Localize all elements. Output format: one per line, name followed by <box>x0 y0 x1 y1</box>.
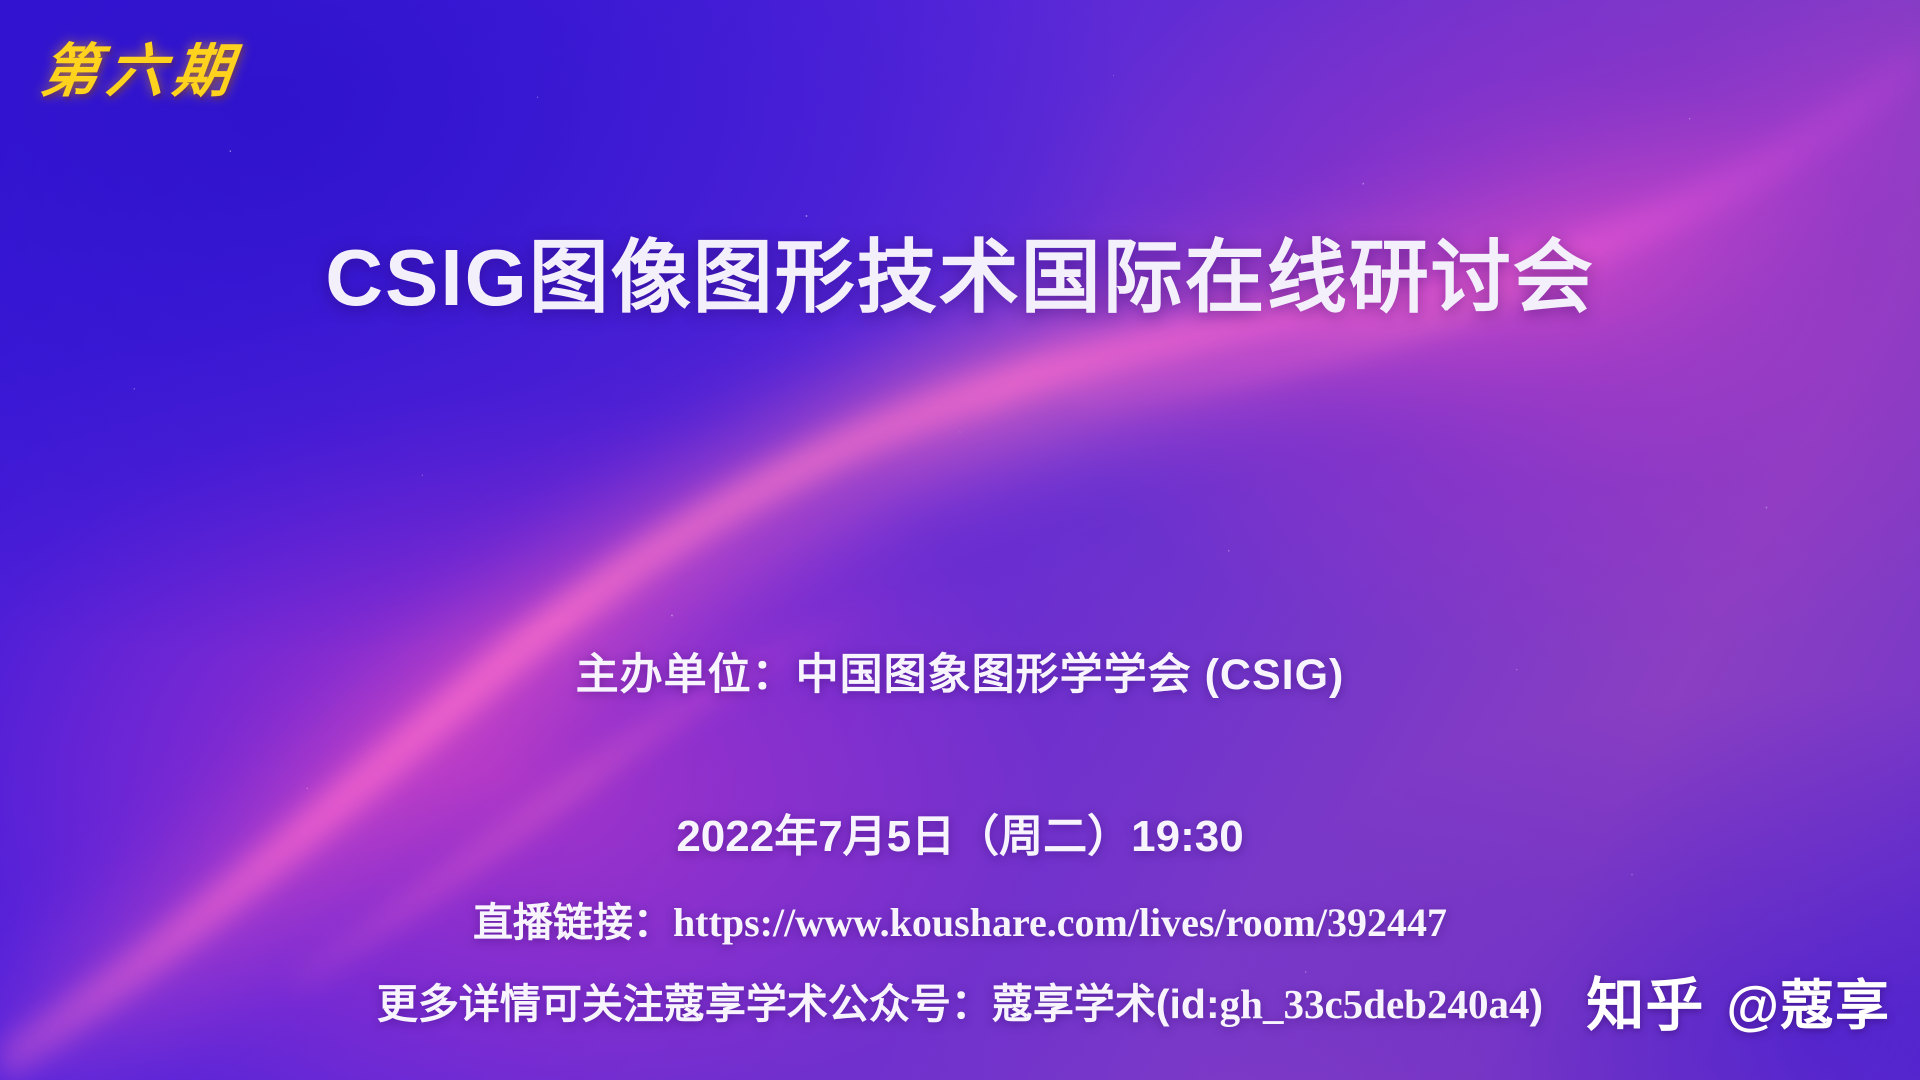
zhihu-watermark: 知乎 @蔻享 <box>1586 958 1890 1042</box>
zhihu-handle: @蔻享 <box>1726 961 1890 1040</box>
page-title: CSIG图像图形技术国际在线研讨会 <box>0 236 1920 320</box>
organizer-line: 主办单位：中国图象图形学学会 (CSIG) <box>0 640 1920 702</box>
poster-content: 第六期 CSIG图像图形技术国际在线研讨会 主办单位：中国图象图形学学会 (CS… <box>0 0 1920 1080</box>
datetime-line: 2022年7月5日（周二）19:30 <box>0 800 1920 864</box>
wechat-label: 更多详情可关注蔻享学术公众号：蔻享学术(id: <box>377 981 1220 1027</box>
wechat-account-id: gh_33c5deb240a4 <box>1220 981 1530 1027</box>
live-link-url[interactable]: https://www.koushare.com/lives/room/3924… <box>673 900 1447 945</box>
live-link-line[interactable]: 直播链接：https://www.koushare.com/lives/room… <box>0 890 1920 948</box>
live-link-label: 直播链接： <box>473 901 673 945</box>
episode-badge: 第六期 <box>37 24 245 108</box>
webinar-poster: 第六期 CSIG图像图形技术国际在线研讨会 主办单位：中国图象图形学学会 (CS… <box>0 0 1920 1080</box>
wechat-suffix: ) <box>1529 981 1543 1027</box>
zhihu-logo-text: 知乎 <box>1586 958 1704 1042</box>
